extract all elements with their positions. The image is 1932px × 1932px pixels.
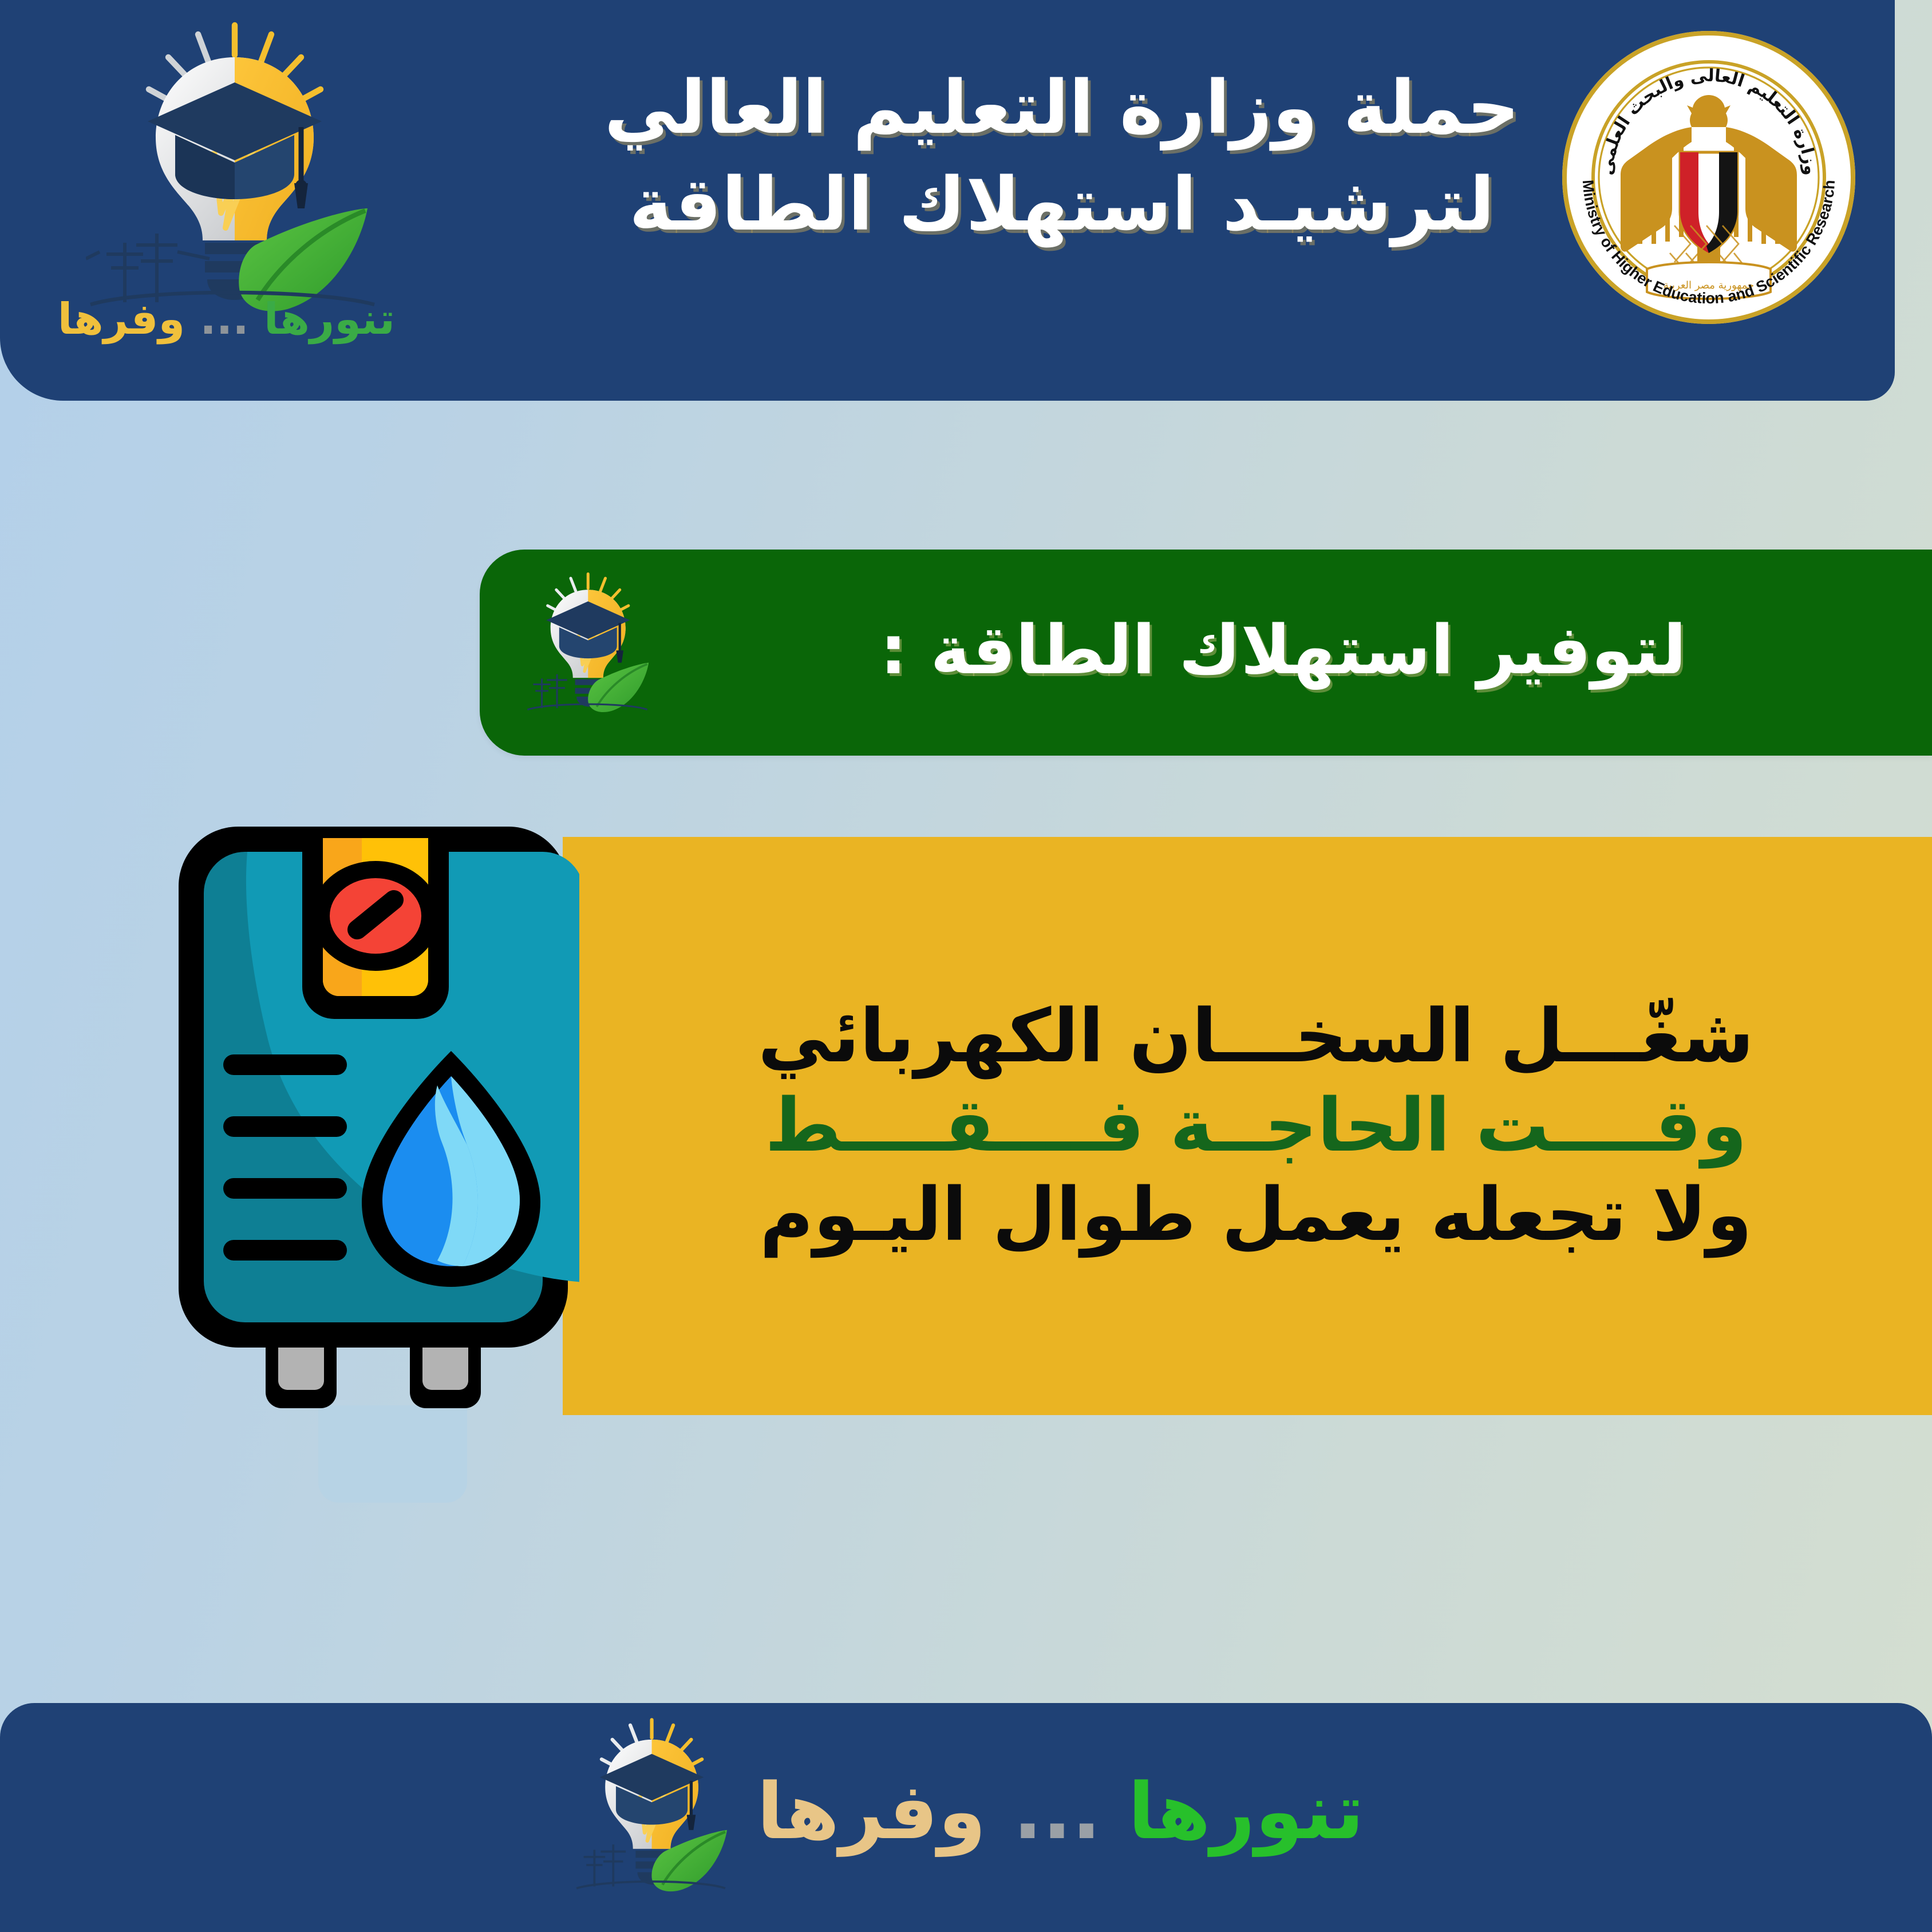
footer-slogan-gold-word: وفرها (757, 1767, 986, 1856)
section-heading-banner: لتوفير استهلاك الطاقة : (480, 550, 1932, 756)
tip-line-2: وقــــت الحاجــة فــــقــــط (765, 1081, 1747, 1171)
footer-banner: تنورها ... وفرها (0, 1703, 1932, 1932)
section-heading-text: لتوفير استهلاك الطاقة : (650, 610, 1916, 695)
slogan-gold-word: وفرها (58, 294, 185, 344)
footer-slogan: تنورها ... وفرها (757, 1773, 1364, 1863)
campaign-logo-small-icon (524, 570, 650, 736)
campaign-logo-icon (86, 16, 384, 337)
tip-panel: شغّـــل السخـــان الكهربائي وقــــت الحا… (563, 837, 1932, 1415)
footer-slogan-green-word: تنورها (1128, 1767, 1364, 1856)
header-banner: تنورها ... وفرها حملة وزارة التعليم العا… (0, 0, 1895, 401)
ministry-emblem-icon: جمهورية مصر العربية وزارة التعليم العالى… (1560, 29, 1858, 326)
page-title-line-2: لترشيـد استهلاك الطاقة (550, 157, 1574, 254)
page-title-line-1: حملة وزارة التعليم العالي (550, 60, 1574, 157)
campaign-logo-footer-icon (568, 1714, 734, 1921)
tip-line-3: ولا تجعله يعمل طوال اليـوم (760, 1171, 1752, 1260)
slogan-dots: ... (200, 294, 248, 344)
water-heater-icon (167, 815, 579, 1422)
tip-line-1: شغّـــل السخـــان الكهربائي (758, 992, 1754, 1081)
footer-slogan-dots: ... (1013, 1767, 1101, 1856)
campaign-logo-slogan: تنورها ... وفرها (74, 298, 395, 341)
slogan-green-word: تنورها (264, 294, 395, 344)
page-title: حملة وزارة التعليم العالي لترشيـد استهلا… (550, 60, 1574, 254)
